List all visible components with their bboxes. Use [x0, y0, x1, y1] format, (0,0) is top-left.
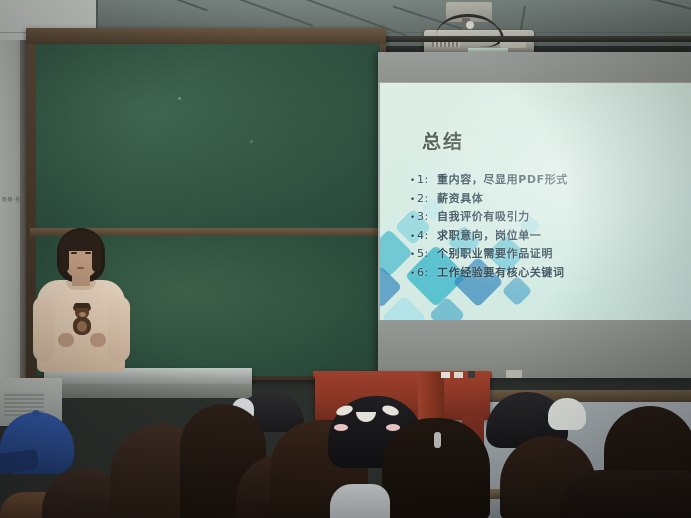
slide-bullet: • 4: 求职意向，岗位单一 [408, 227, 684, 243]
teacher-desk-front [44, 384, 252, 398]
chalk-piece [454, 372, 463, 378]
bullet-text: 工作经验要有核心关键词 [437, 264, 565, 280]
bullet-text: 求职意向，岗位单一 [437, 227, 541, 243]
deco-square [429, 297, 466, 320]
chalkboard-top-rail [26, 28, 386, 44]
bullet-number: 5: [417, 247, 437, 260]
ceiling-seam [122, 0, 207, 11]
projector-knob [466, 21, 474, 29]
presenter-left-arm [33, 296, 55, 362]
screen-top-band [378, 52, 691, 82]
bullet-text: 重内容，尽显用PDF形式 [437, 171, 568, 187]
bullet-dot-icon: • [408, 195, 417, 205]
presenter-left-hand [58, 333, 74, 347]
eraser [506, 370, 522, 378]
bullet-number: 6: [417, 266, 437, 279]
bullet-text: 自我评价有吸引力 [437, 208, 530, 224]
bullet-text: 薪资具体 [437, 190, 483, 206]
bullet-dot-icon: • [408, 213, 417, 223]
slide-bullet: • 2: 薪资具体 [408, 190, 684, 206]
slide-bullet: • 1: 重内容，尽显用PDF形式 [408, 171, 684, 187]
chalkboard-surface-upper [36, 44, 380, 230]
slide-title: 总结 [422, 127, 464, 154]
bullet-number: 4: [417, 229, 437, 242]
presenter-mouth [77, 267, 84, 269]
screen-bottom-band [378, 320, 691, 378]
bear-hat [74, 303, 90, 308]
deco-square [381, 295, 426, 320]
chalk-piece [441, 372, 450, 378]
bullet-dot-icon: • [408, 232, 417, 242]
presenter-right-hand [90, 333, 106, 347]
ceiling-seam [209, 0, 313, 27]
bullet-text: 个别职业需要作品证明 [437, 245, 553, 261]
presenter-hair-right [92, 240, 101, 272]
slide-bullet: • 5: 个别职业需要作品证明 [408, 245, 684, 261]
slide-bullet: • 6: 工作经验要有核心关键词 [408, 264, 684, 280]
presenter-left-eye [71, 252, 77, 254]
chalk-speck [250, 140, 253, 143]
student-dark-shoulder [560, 470, 691, 518]
presenter-right-arm [108, 296, 130, 362]
slide-bullet-list: • 1: 重内容，尽显用PDF形式 • 2: 薪资具体 • 3: 自我评价有吸引… [408, 171, 684, 282]
cap-button [32, 410, 40, 417]
presentation-slide: 总结 • 1: 重内容，尽显用PDF形式 • 2: 薪资具体 • 3: 自我评价… [380, 83, 691, 320]
presenter-right-eye [85, 252, 91, 254]
deco-square [380, 266, 402, 308]
student-white-shoulder [330, 484, 390, 518]
chalk-piece [468, 371, 475, 378]
ceiling-seam [602, 0, 691, 16]
bullet-dot-icon: • [408, 250, 417, 260]
bullet-number: 2: [417, 192, 437, 205]
cap-white-panel [548, 398, 586, 430]
projector-rail [386, 36, 691, 42]
bullet-number: 3: [417, 210, 437, 223]
bear-belly [77, 321, 87, 332]
bullet-number: 1: [417, 173, 437, 186]
bullet-dot-icon: • [408, 176, 417, 186]
hair-clip [434, 432, 441, 448]
chalk-speck [178, 97, 181, 100]
presenter-hair-left [60, 240, 69, 272]
bullet-dot-icon: • [408, 269, 417, 279]
cat-cheek-left [334, 424, 348, 431]
slide-bullet: • 3: 自我评价有吸引力 [408, 208, 684, 224]
classroom-photo: 班级·名 总结 [0, 0, 691, 518]
projection-screen: 总结 • 1: 重内容，尽显用PDF形式 • 2: 薪资具体 • 3: 自我评价… [378, 52, 691, 378]
